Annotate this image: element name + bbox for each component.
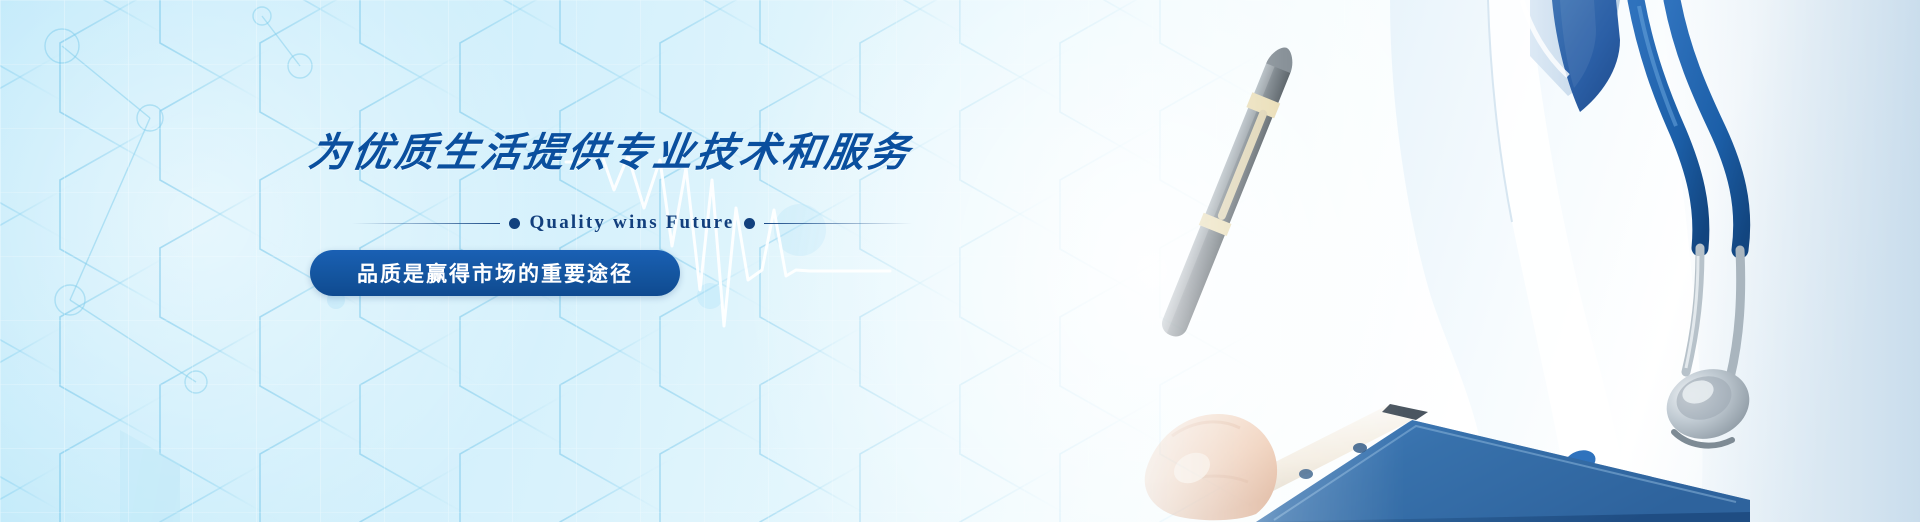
hero-banner: 为优质生活提供专业技术和服务 Quality wins Future 品质是赢得… bbox=[0, 0, 1920, 522]
page-title: 为优质生活提供专业技术和服务 bbox=[305, 120, 934, 178]
slogan-pill-button[interactable]: 品质是赢得市场的重要途径 bbox=[310, 250, 680, 296]
dot-marker-icon bbox=[509, 218, 520, 229]
tagline-rule-right bbox=[764, 223, 912, 224]
slogan-pill-label: 品质是赢得市场的重要途径 bbox=[357, 258, 633, 288]
tagline-rule-left bbox=[352, 223, 500, 224]
tagline-english: Quality wins Future bbox=[529, 212, 734, 234]
doctor-photo bbox=[1060, 0, 1920, 522]
dot-marker-icon bbox=[744, 218, 755, 229]
tagline-row: Quality wins Future bbox=[352, 212, 912, 234]
banner-copy: 为优质生活提供专业技术和服务 Quality wins Future 品质是赢得… bbox=[310, 120, 930, 296]
